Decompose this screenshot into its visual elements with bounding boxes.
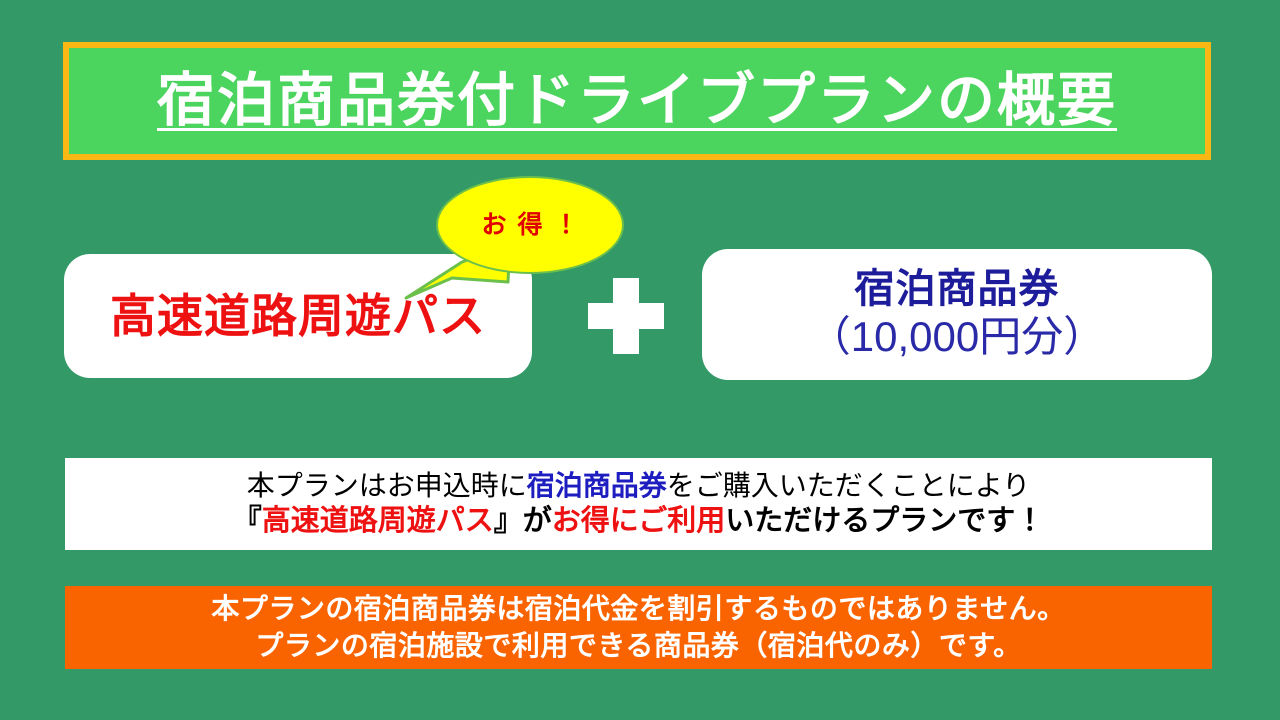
description-line-2-part-2: 』が (494, 505, 552, 537)
description-line-1-part-2: をご購入いただくことにより (667, 470, 1030, 501)
speech-bubble: お得！ (436, 176, 624, 274)
speech-bubble-label: お得！ (470, 213, 589, 238)
description-line-1: 本プランはお申込時に宿泊商品券をご購入いただくことにより (247, 468, 1030, 504)
page-title: 宿泊商品券付ドライブプランの概要 (157, 72, 1117, 130)
description-line-1-highlight: 宿泊商品券 (527, 470, 667, 501)
description-panel: 本プランはお申込時に宿泊商品券をご購入いただくことにより 『高速道路周遊パス』が… (65, 458, 1212, 550)
notice-line-2: プランの宿泊施設で利用できる商品券（宿泊代のみ）です。 (255, 628, 1021, 664)
description-line-2-part-1: 『 (233, 505, 262, 537)
notice-line-1: 本プランの宿泊商品券は宿泊代金を割引するものではありません。 (211, 591, 1065, 627)
description-line-2-highlight-2: お得にご利用 (552, 505, 725, 537)
plus-icon (588, 278, 664, 354)
slide-canvas: 宿泊商品券付ドライブプランの概要 お得！ 高速道路周遊パス 宿泊商品券 （10,… (0, 0, 1280, 720)
description-line-2: 『高速道路周遊パス』がお得にご利用いただけるプランです！ (233, 503, 1044, 540)
card-accommodation-voucher: 宿泊商品券 （10,000円分） (702, 249, 1212, 380)
description-line-2-part-3: いただけるプランです！ (725, 505, 1044, 537)
description-line-2-highlight-1: 高速道路周遊パス (262, 505, 494, 537)
card-accommodation-voucher-label: 宿泊商品券 (855, 266, 1060, 312)
description-line-1-part-1: 本プランはお申込時に (247, 470, 527, 501)
title-banner: 宿泊商品券付ドライブプランの概要 (63, 42, 1211, 160)
card-accommodation-voucher-amount: （10,000円分） (809, 312, 1105, 362)
notice-panel: 本プランの宿泊商品券は宿泊代金を割引するものではありません。 プランの宿泊施設で… (65, 586, 1212, 669)
